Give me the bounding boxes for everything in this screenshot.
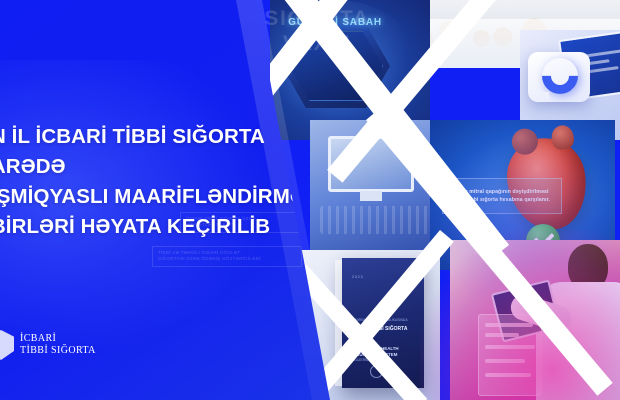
watermark-title: SIĞORTA VAXTI — [232, 6, 402, 56]
booklet-superline: AZƏRBAYCAN RESPUBLİKASINDA — [352, 318, 416, 323]
page-title: ƏN İL İCBARİ TİBBİ SIĞORTA BARƏDƏ NİŞMİQ… — [0, 122, 306, 242]
chat-bubble-icon — [528, 52, 590, 102]
booklet-title-az: İCBARİ TİBBİ SIĞORTA SİSTEMİ — [352, 326, 416, 339]
keyboard-icon — [320, 206, 430, 234]
brand-logo-text: İCBARİ TİBBİ SIĞORTA — [20, 333, 96, 358]
booklet-subtitle-en: IN AZERBAIJAN — [352, 358, 416, 363]
ghost-badge: TİBBİ VƏ TƏHSİLİ İCBARİ DÖVLƏT SIĞORTASI… — [152, 246, 302, 267]
monitor-icon — [328, 136, 414, 192]
booklet-title-en: MANDATORY HEALTH INSURANCE SYSTEM — [352, 346, 416, 358]
phone-handset-icon — [535, 51, 586, 102]
state-seal-icon — [370, 365, 383, 378]
news-hero-banner: GÜVƏNLİ SABAH Ürəyin mitral qapağının də… — [0, 0, 620, 400]
heart-card-caption: Ürəyin mitral qapağının dəyişdirilməsi i… — [442, 178, 562, 214]
form-card-icon — [478, 314, 542, 396]
booklet-year: 2023 — [352, 274, 363, 279]
person-with-tablet-tile — [450, 240, 620, 400]
brand-logo[interactable]: İCBARİ TİBBİ SIĞORTA — [0, 330, 96, 360]
hexagon-logo-icon — [0, 330, 14, 360]
booklet-cover: 2023 AZƏRBAYCAN RESPUBLİKASINDA İCBARİ T… — [342, 258, 424, 388]
